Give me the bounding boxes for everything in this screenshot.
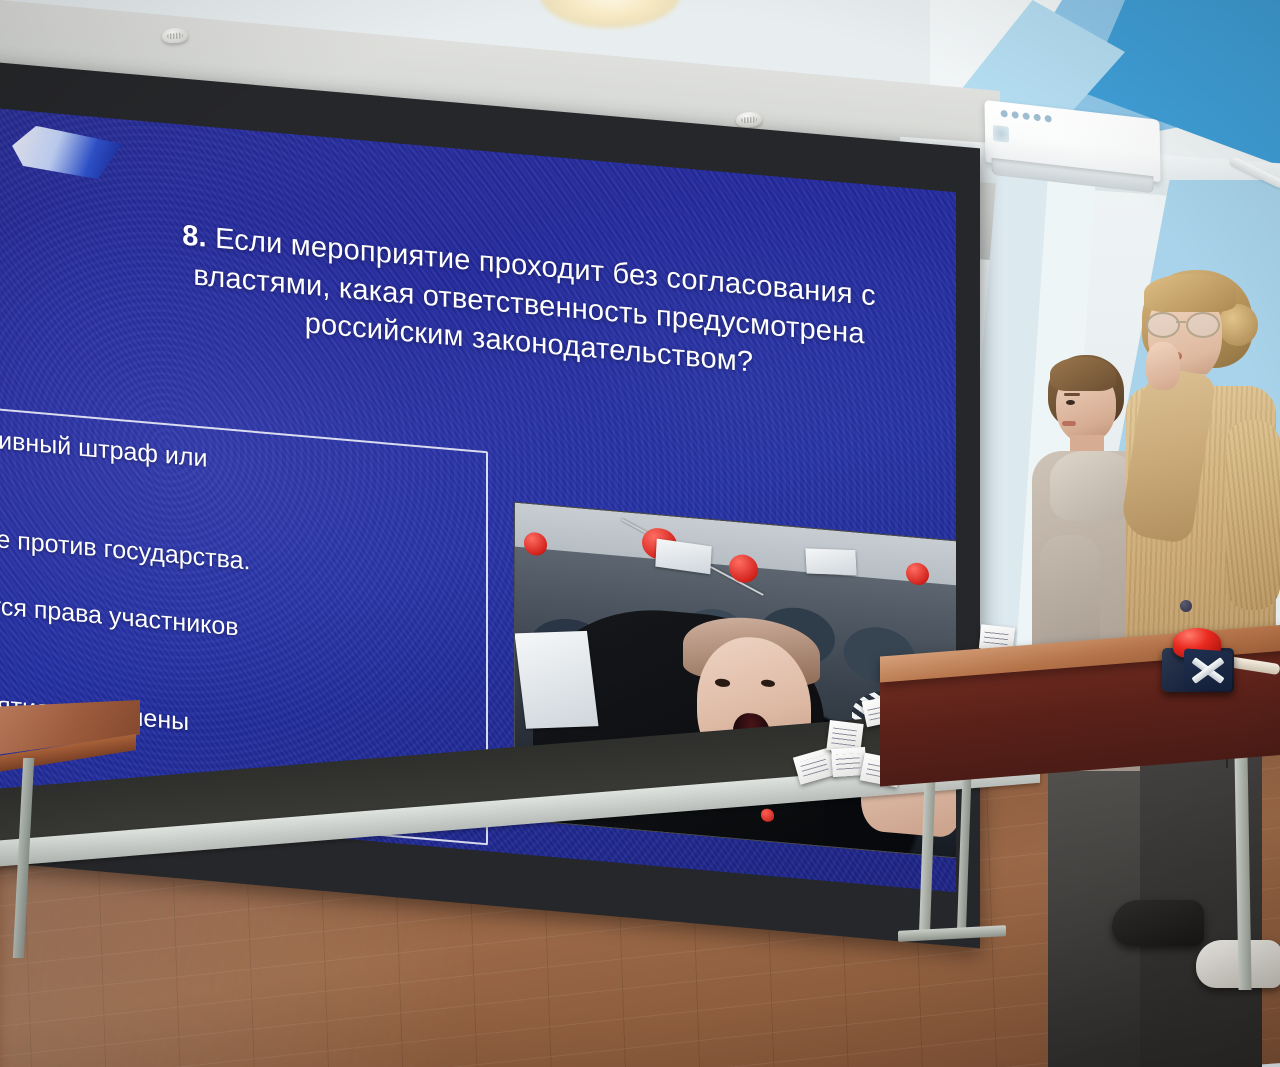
- answer-option: раничиваются права участников нга.: [0, 578, 464, 696]
- quiz-buzzer[interactable]: [1162, 628, 1234, 692]
- student-back-eyebrow: [1064, 393, 1080, 396]
- student-front-cardigan-button: [1180, 600, 1192, 612]
- question-text: Если мероприятие проходит без согласован…: [193, 222, 875, 378]
- student-back-eye: [1066, 400, 1075, 405]
- slide-corner-decoration: [12, 124, 122, 182]
- photo-protest-sign: [806, 548, 857, 575]
- student-front-hair-fringe: [1144, 274, 1236, 312]
- student-front-hand: [1146, 342, 1180, 390]
- question-number: 8.: [182, 220, 207, 254]
- student-front-cardigan-sleeve: [1226, 420, 1280, 610]
- answer-option: реступление против государства.: [0, 512, 464, 597]
- glasses-icon: [1146, 312, 1228, 334]
- classroom-scene: 8. Если мероприятие проходит без согласо…: [0, 0, 1280, 1067]
- student-back-lips: [1062, 421, 1076, 426]
- student-back-hair-front: [1050, 357, 1116, 391]
- photo-protest-sign: [514, 631, 598, 729]
- answer-line-1: реступление против государства.: [0, 512, 464, 597]
- photo-eye: [715, 678, 730, 687]
- student-front: [1122, 270, 1272, 970]
- photo-badge-pin: [761, 809, 775, 823]
- air-conditioner-logo: [993, 125, 1009, 143]
- student-shoe-dark: [1112, 900, 1204, 946]
- photo-balloon: [524, 532, 547, 556]
- slide-question-title: 8. Если мероприятие проходит без согласо…: [144, 213, 914, 396]
- x-mark-icon: [1188, 654, 1228, 686]
